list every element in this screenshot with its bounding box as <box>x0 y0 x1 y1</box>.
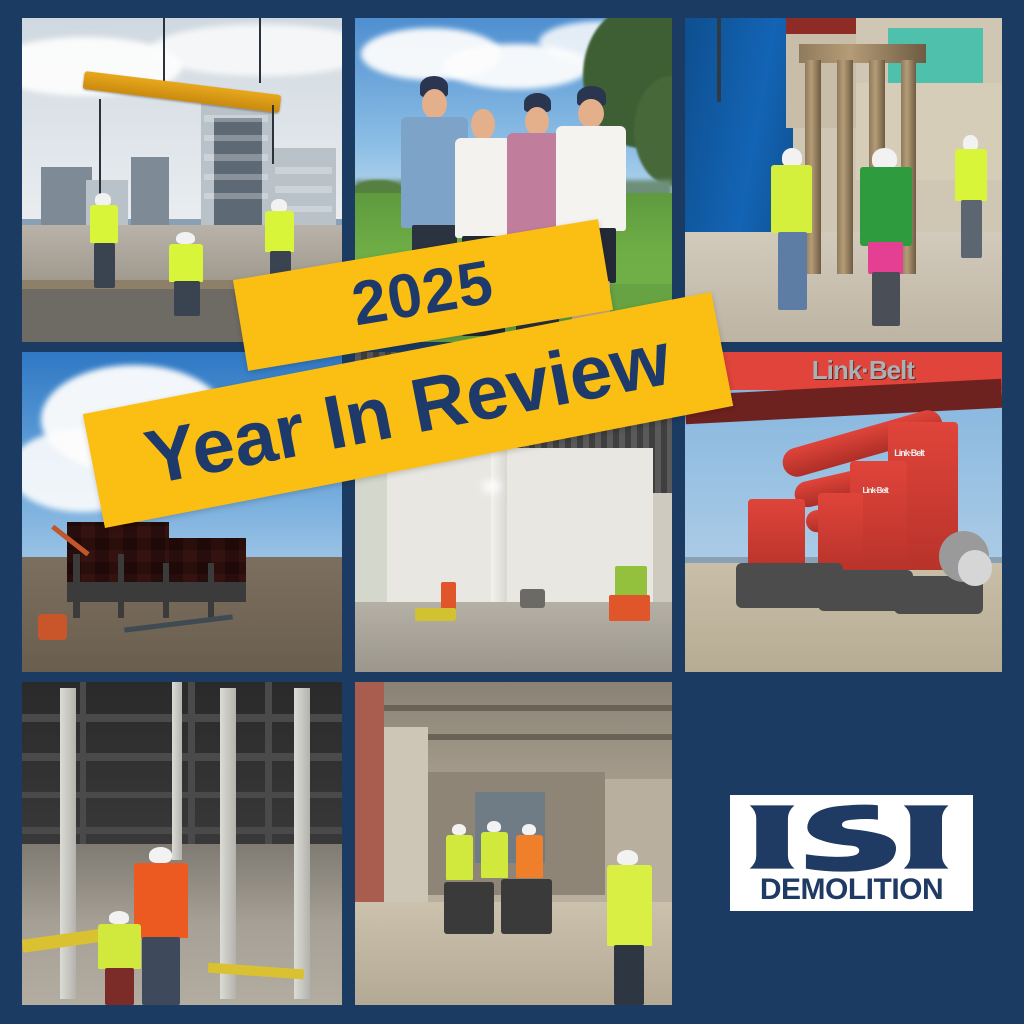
poster-canvas: Link·Belt Link·Belt Link·Belt <box>0 0 1024 1024</box>
isi-monogram-icon <box>743 801 961 873</box>
photo-excavator-fleet: Link·Belt Link·Belt Link·Belt <box>685 352 1002 672</box>
link-belt-decal-text: Link·Belt <box>812 355 914 386</box>
photo-shoring-crew <box>685 18 1002 342</box>
photo-steel-structure-tour <box>22 682 342 1005</box>
headline-year-text: 2025 <box>347 246 499 339</box>
logo-wordmark: DEMOLITION <box>760 875 943 905</box>
photo-interior-cleanup <box>355 682 672 1005</box>
isi-demolition-logo: DEMOLITION <box>730 795 973 911</box>
